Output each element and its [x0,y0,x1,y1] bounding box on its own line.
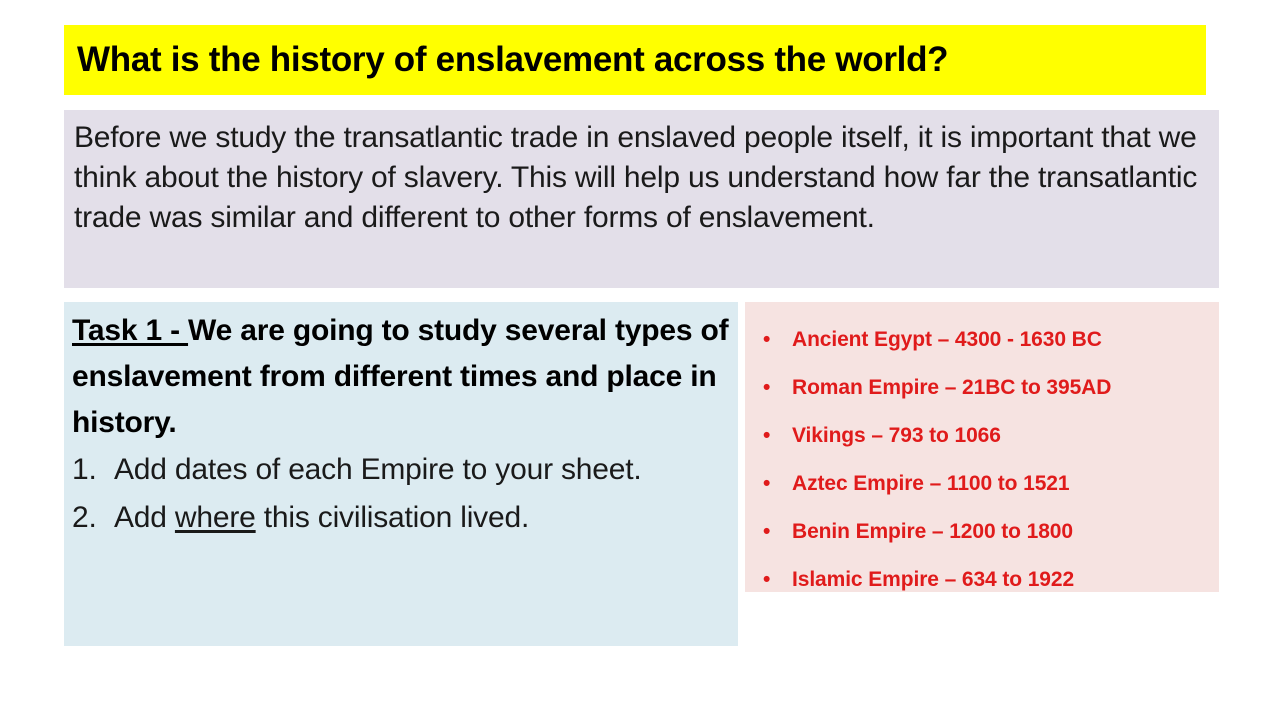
task-step-item: 2.Add where this civilisation lived. [72,494,732,542]
list-item: • Aztec Empire – 1100 to 1521 [755,460,1211,508]
bullet-icon: • [763,316,770,364]
task-step-number: 1. [72,446,110,494]
task-panel: Task 1 - We are going to study several t… [64,302,738,646]
list-item: • Benin Empire – 1200 to 1800 [755,508,1211,556]
task-step-list: 1.Add dates of each Empire to your sheet… [72,446,732,542]
bullet-icon: • [763,412,770,460]
bullet-icon: • [763,460,770,508]
list-item: • Ancient Egypt – 4300 - 1630 BC [755,316,1211,364]
list-item: • Roman Empire – 21BC to 395AD [755,364,1211,412]
empire-label: Benin Empire – 1200 to 1800 [792,520,1073,543]
empires-panel: • Ancient Egypt – 4300 - 1630 BC • Roman… [745,302,1219,592]
task-step-text-before: Add dates of each Empire to your sheet. [114,453,642,486]
empire-label: Ancient Egypt – 4300 - 1630 BC [792,328,1102,351]
bullet-icon: • [763,364,770,412]
empire-label: Roman Empire – 21BC to 395AD [792,376,1111,399]
task-heading-label: Task 1 - [72,314,188,347]
intro-panel: Before we study the transatlantic trade … [64,110,1219,288]
task-step-text-before: Add [114,501,175,534]
task-step-item: 1.Add dates of each Empire to your sheet… [72,446,732,494]
empires-list: • Ancient Egypt – 4300 - 1630 BC • Roman… [755,316,1211,604]
task-step-text-after: this civilisation lived. [256,501,529,534]
title-banner: What is the history of enslavement acros… [64,25,1206,95]
empire-label: Islamic Empire – 634 to 1922 [792,568,1074,591]
slide-canvas: What is the history of enslavement acros… [0,0,1268,713]
empire-label: Vikings – 793 to 1066 [792,424,1001,447]
bullet-icon: • [763,508,770,556]
empire-label: Aztec Empire – 1100 to 1521 [792,472,1069,495]
task-heading: Task 1 - We are going to study several t… [72,308,732,446]
page-title: What is the history of enslavement acros… [64,42,948,79]
task-step-number: 2. [72,494,110,542]
list-item: • Islamic Empire – 634 to 1922 [755,556,1211,604]
intro-paragraph: Before we study the transatlantic trade … [74,118,1205,238]
bullet-icon: • [763,556,770,604]
list-item: • Vikings – 793 to 1066 [755,412,1211,460]
task-step-text-underlined: where [175,501,256,534]
